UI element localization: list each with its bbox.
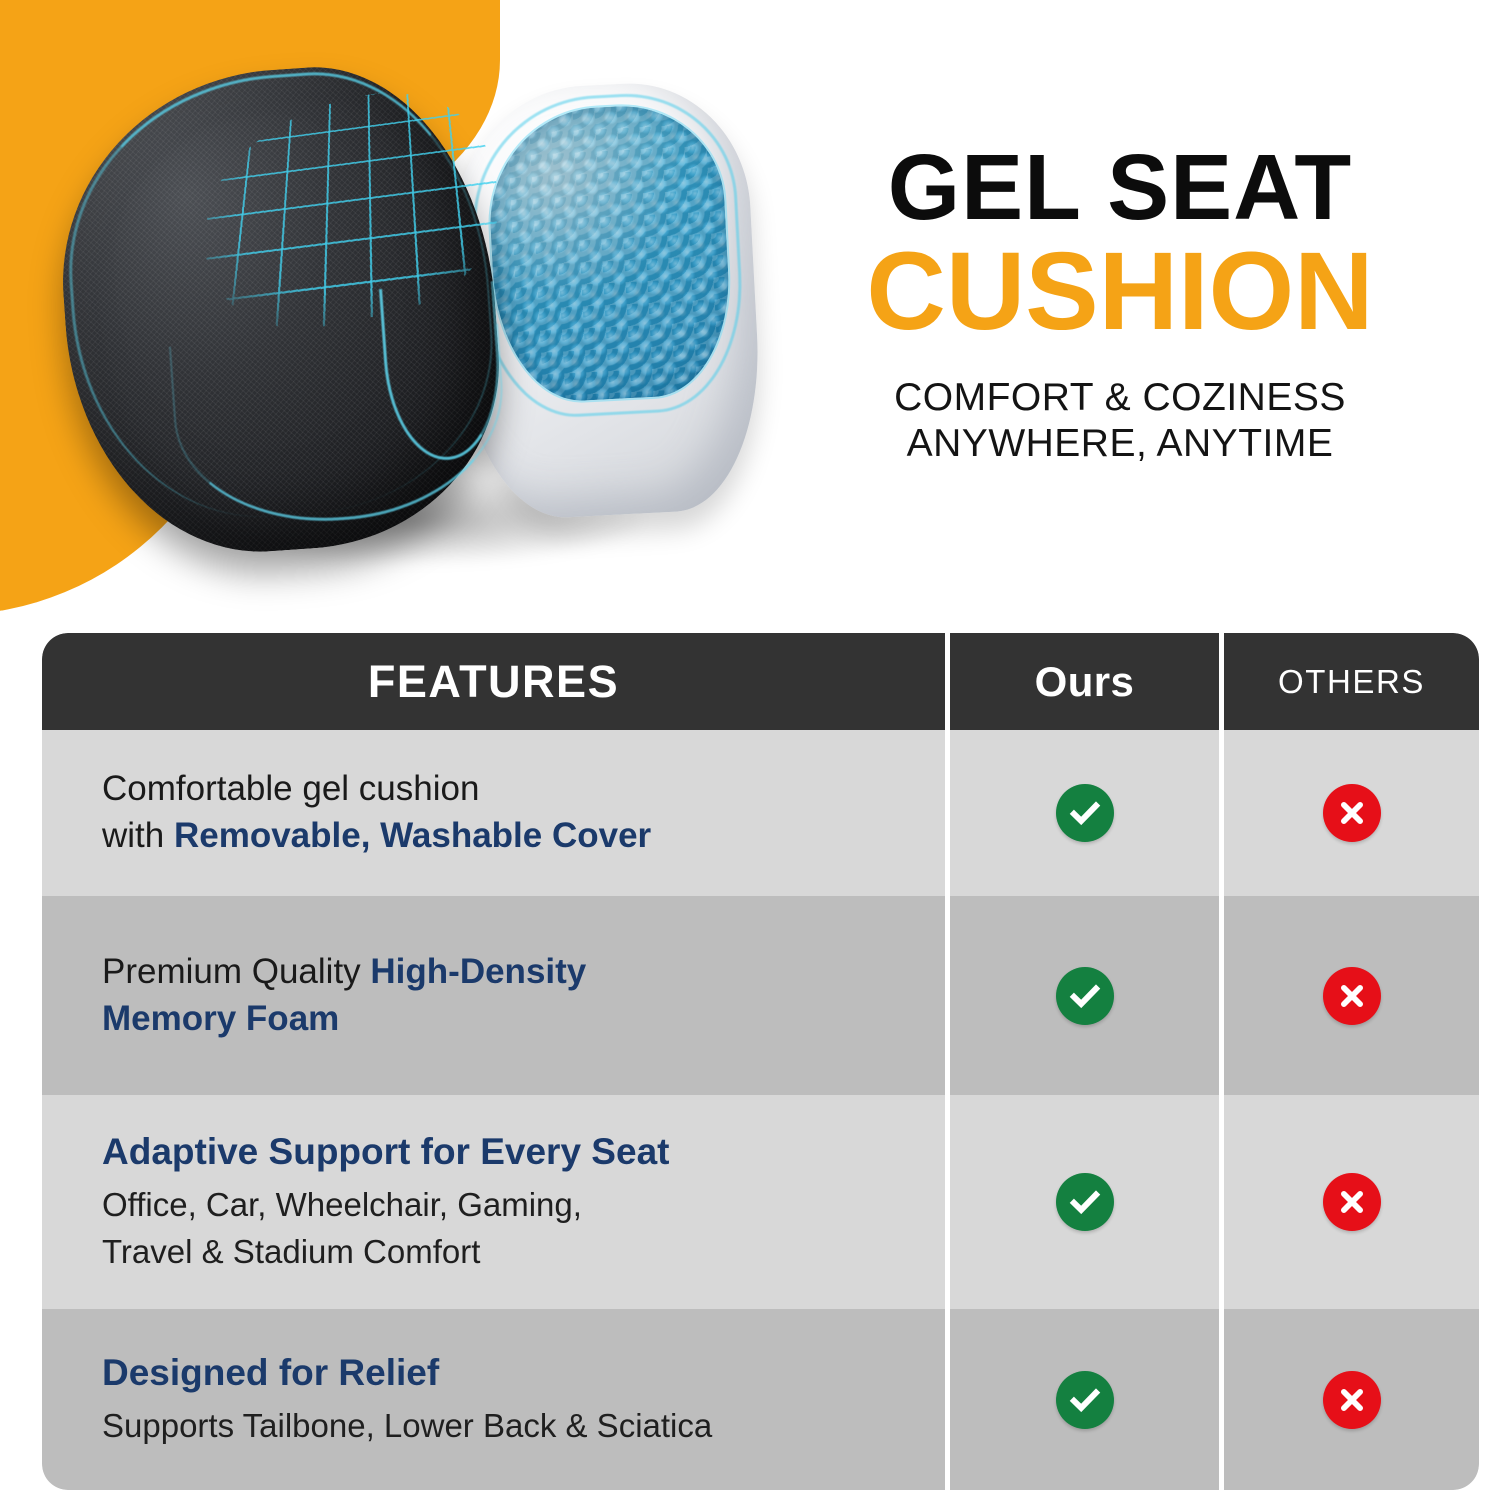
- header-cell-ours: Ours: [945, 633, 1219, 730]
- cross-circle-icon: [1323, 1173, 1381, 1231]
- gel-bubble-pad: [485, 101, 735, 405]
- product-image: [55, 35, 775, 575]
- others-cell: [1219, 1309, 1479, 1490]
- ours-cell: [945, 896, 1219, 1095]
- table-row: Comfortable gel cushion with Removable, …: [42, 730, 1479, 896]
- table-header-row: FEATURES Ours OTHERS: [42, 633, 1479, 730]
- header-label-others: OTHERS: [1278, 663, 1425, 701]
- title-line-2: CUSHION: [770, 237, 1470, 347]
- subtitle-line-1: COMFORT & COZINESS: [770, 375, 1470, 421]
- ours-cell: [945, 1095, 1219, 1309]
- feature-cell: Adaptive Support for Every Seat Office, …: [42, 1095, 945, 1309]
- header-cell-features: FEATURES: [42, 633, 945, 730]
- table-row: Premium Quality High-Density Memory Foam: [42, 896, 1479, 1095]
- others-cell: [1219, 1095, 1479, 1309]
- comparison-table: FEATURES Ours OTHERS Comfortable gel cus…: [42, 633, 1479, 1490]
- feature-line-1: Premium Quality High-Density: [102, 949, 586, 996]
- table-row: Adaptive Support for Every Seat Office, …: [42, 1095, 1479, 1309]
- headline-block: GEL SEAT CUSHION COMFORT & COZINESS ANYW…: [770, 140, 1470, 467]
- cross-circle-icon: [1323, 967, 1381, 1025]
- feature-cell: Designed for Relief Supports Tailbone, L…: [42, 1309, 945, 1490]
- header-label-ours: Ours: [1035, 658, 1135, 706]
- feature-sub-line-1: Office, Car, Wheelchair, Gaming,: [102, 1182, 582, 1229]
- feature-line-2: Memory Foam: [102, 996, 339, 1043]
- feature-line-2-plain: with: [102, 816, 174, 855]
- hero-section: GEL SEAT CUSHION COMFORT & COZINESS ANYW…: [0, 0, 1493, 625]
- feature-heading: Adaptive Support for Every Seat: [102, 1128, 669, 1176]
- check-circle-icon: [1056, 1371, 1114, 1429]
- feature-line-1-bold: High-Density: [370, 952, 586, 991]
- feature-line-2-bold: Removable, Washable Cover: [174, 816, 651, 855]
- feature-sub-line-2: Travel & Stadium Comfort: [102, 1229, 480, 1276]
- header-cell-others: OTHERS: [1219, 633, 1479, 730]
- others-cell: [1219, 730, 1479, 896]
- check-circle-icon: [1056, 967, 1114, 1025]
- header-label-features: FEATURES: [368, 656, 619, 708]
- gel-bubbles-layer-b: [485, 101, 735, 405]
- feature-cell: Premium Quality High-Density Memory Foam: [42, 896, 945, 1095]
- check-circle-icon: [1056, 1173, 1114, 1231]
- subtitle: COMFORT & COZINESS ANYWHERE, ANYTIME: [770, 375, 1470, 467]
- feature-heading: Designed for Relief: [102, 1349, 439, 1397]
- table-row: Designed for Relief Supports Tailbone, L…: [42, 1309, 1479, 1490]
- feature-line-1-plain: Premium Quality: [102, 952, 370, 991]
- others-cell: [1219, 896, 1479, 1095]
- cross-circle-icon: [1323, 1371, 1381, 1429]
- feature-sub-line-1: Supports Tailbone, Lower Back & Sciatica: [102, 1403, 712, 1450]
- cross-circle-icon: [1323, 784, 1381, 842]
- feature-line-1: Comfortable gel cushion: [102, 766, 479, 813]
- check-circle-icon: [1056, 784, 1114, 842]
- feature-line-2: with Removable, Washable Cover: [102, 813, 651, 860]
- feature-cell: Comfortable gel cushion with Removable, …: [42, 730, 945, 896]
- ours-cell: [945, 730, 1219, 896]
- ours-cell: [945, 1309, 1219, 1490]
- infographic-page: GEL SEAT CUSHION COMFORT & COZINESS ANYW…: [0, 0, 1493, 1500]
- subtitle-line-2: ANYWHERE, ANYTIME: [770, 421, 1470, 467]
- title-line-1: GEL SEAT: [770, 140, 1470, 235]
